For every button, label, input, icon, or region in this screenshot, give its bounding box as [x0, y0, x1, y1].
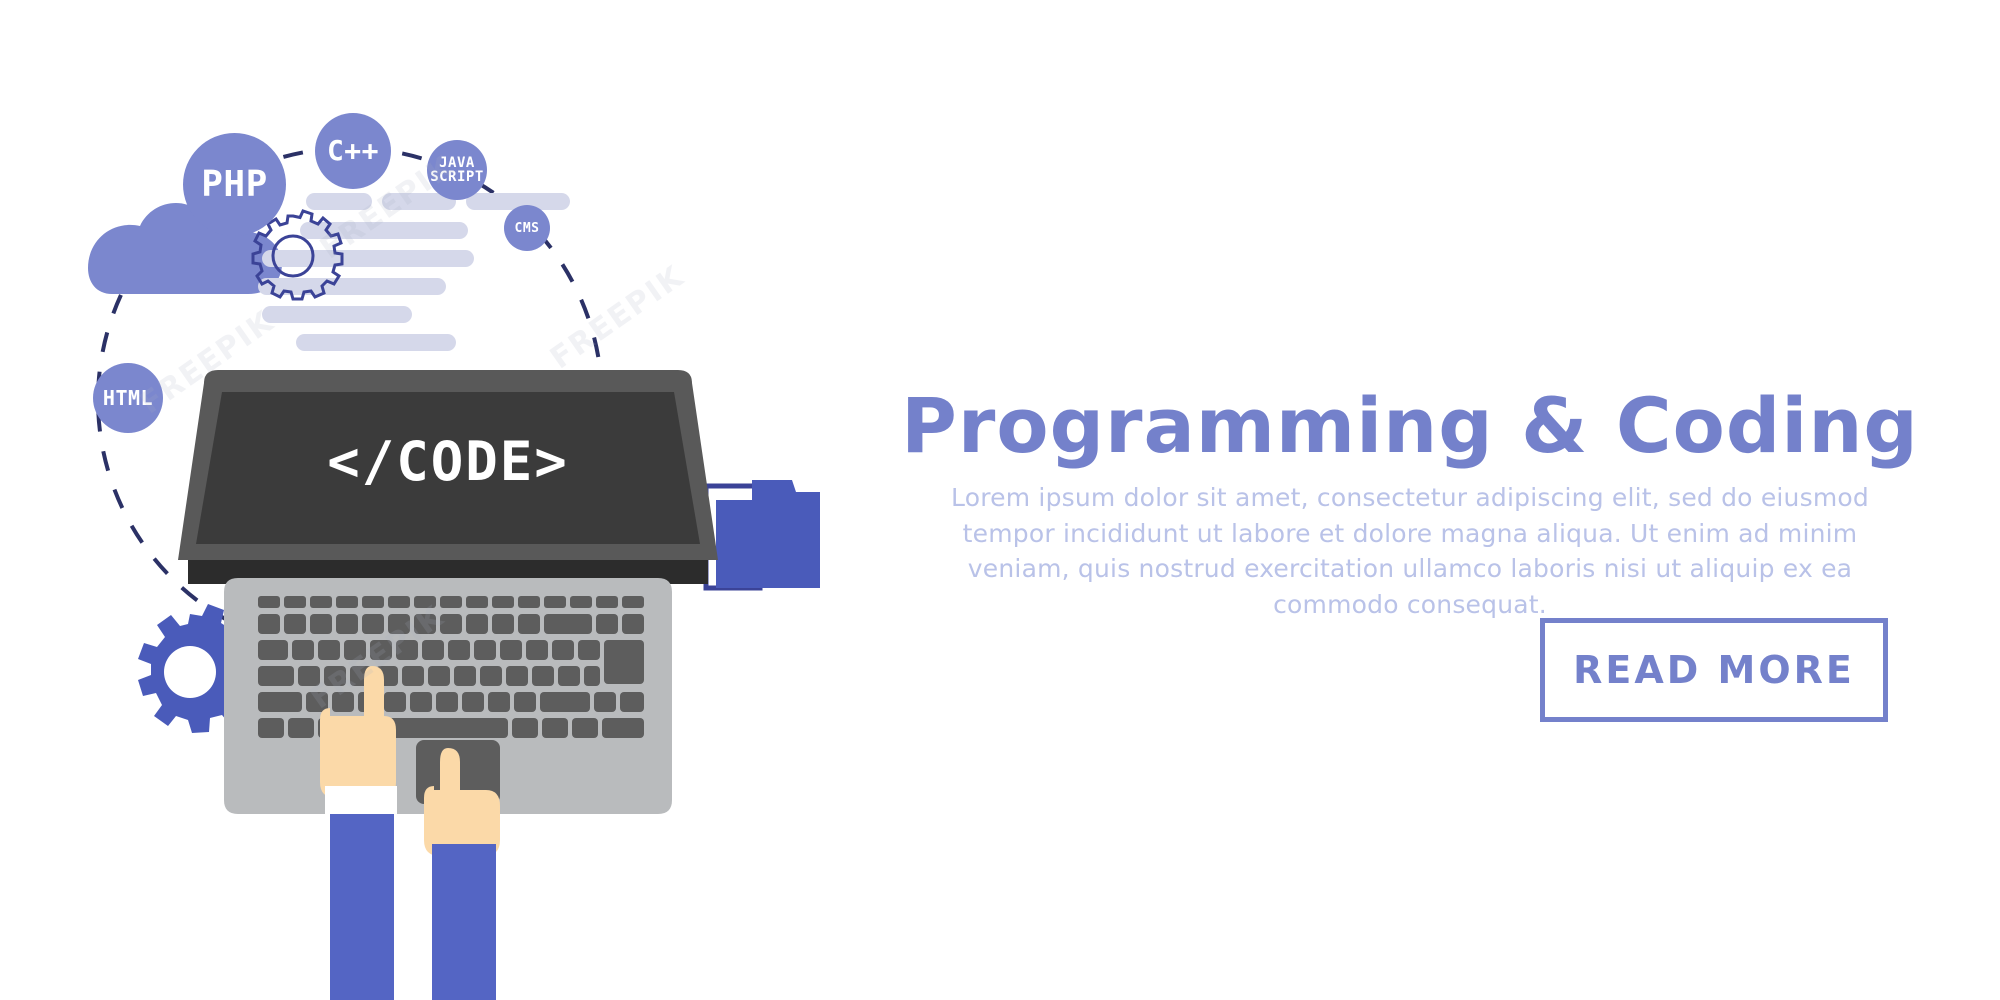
page-title: Programming & Coding — [900, 381, 1920, 470]
banner-root: PHP C++ JAVA SCRIPT CMS HTML </CODE> FRE… — [0, 0, 2000, 1000]
badge-cms-label: CMS — [515, 222, 540, 235]
illustration: PHP C++ JAVA SCRIPT CMS HTML </CODE> FRE… — [0, 0, 900, 1000]
badge-html-label: HTML — [103, 388, 153, 408]
hand-icon-left — [320, 666, 397, 1000]
content-panel: Programming & Coding Lorem ipsum dolor s… — [900, 0, 2000, 1000]
laptop-screen-text: </CODE> — [196, 430, 700, 493]
badge-php-label: PHP — [201, 167, 268, 203]
folder-icon — [706, 480, 820, 588]
badge-javascript[interactable]: JAVA SCRIPT — [427, 140, 487, 200]
badge-html[interactable]: HTML — [93, 363, 163, 433]
body-paragraph: Lorem ipsum dolor sit amet, consectetur … — [910, 480, 1910, 622]
arm-sleeve-left — [330, 814, 394, 1000]
badge-php[interactable]: PHP — [183, 133, 286, 236]
badge-cpp-label: C++ — [327, 137, 379, 165]
badge-cpp[interactable]: C++ — [315, 113, 391, 189]
read-more-button[interactable]: READ MORE — [1540, 618, 1888, 722]
badge-cms[interactable]: CMS — [504, 205, 550, 251]
badge-javascript-label-line2: SCRIPT — [430, 170, 484, 184]
arm-sleeve-right — [432, 844, 496, 1000]
